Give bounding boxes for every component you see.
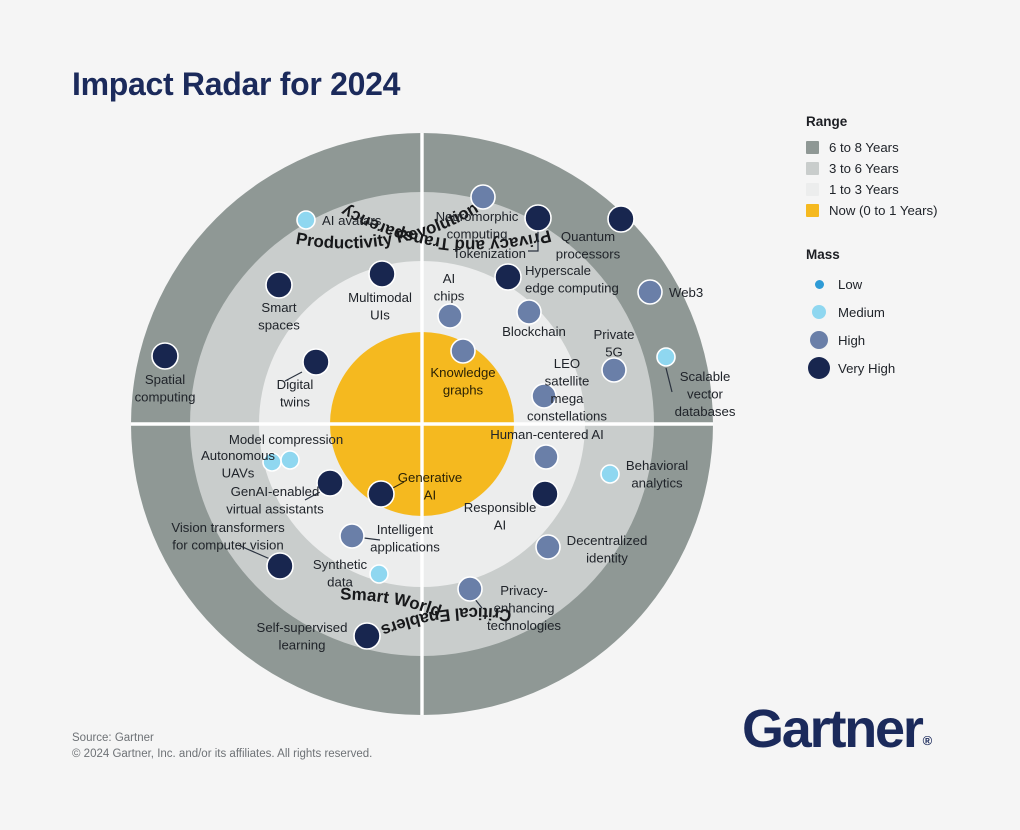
leader-lines (238, 231, 672, 608)
radar-dot[interactable] (281, 451, 299, 469)
radar-dot[interactable] (303, 349, 329, 375)
radar-axis-dividers (131, 133, 713, 715)
legend-mass-label: High (838, 333, 865, 348)
legend-range-list: 6 to 8 Years3 to 6 Years1 to 3 YearsNow … (806, 137, 1006, 221)
radar-dot[interactable] (601, 465, 619, 483)
leader-line (474, 598, 482, 608)
radar-dot[interactable] (368, 481, 394, 507)
radar-dot[interactable] (266, 272, 292, 298)
quadrant-label-productivity-revolution: Productivity Revolution (295, 198, 482, 252)
legend-swatch-icon (806, 183, 819, 196)
ring-3-to-6-years (190, 192, 654, 656)
point-label: GenerativeAI (398, 470, 463, 503)
point-label: AutonomousUAVs (201, 448, 275, 481)
point-label: GenAI-enabledvirtual assistants (226, 484, 324, 517)
legend-swatch-icon (806, 162, 819, 175)
leader-line (666, 368, 672, 392)
leader-line (285, 372, 302, 381)
legend-range-label: 3 to 6 Years (829, 161, 899, 176)
radar-dot[interactable] (517, 300, 541, 324)
legend-range-label: Now (0 to 1 Years) (829, 203, 938, 218)
radar-dot[interactable] (534, 445, 558, 469)
radar-dot[interactable] (369, 261, 395, 287)
radar-dot[interactable] (536, 535, 560, 559)
radar-dot[interactable] (340, 524, 364, 548)
radar-dot[interactable] (532, 481, 558, 507)
point-label: Scalablevectordatabases (675, 369, 736, 419)
quadrant-arc-path (247, 181, 520, 248)
point-label: Tokenization (453, 246, 526, 261)
radar-dot[interactable] (354, 623, 380, 649)
legend-mass-item[interactable]: Low (806, 270, 1006, 298)
point-label: Decentralizedidentity (567, 533, 648, 566)
radar-dot[interactable] (317, 470, 343, 496)
point-label: Private5G (593, 327, 634, 360)
legend-dot-cell (806, 305, 832, 319)
radar-dot[interactable] (267, 553, 293, 579)
point-label: Knowledgegraphs (430, 365, 495, 398)
legend-range-label: 1 to 3 Years (829, 182, 899, 197)
point-label: Blockchain (502, 324, 566, 339)
legend-mass-dot-icon (808, 357, 830, 379)
gartner-logo: Gartner® (742, 702, 931, 756)
legend-mass-label: Medium (838, 305, 885, 320)
point-label: LEOsatellitemegaconstellations (527, 356, 607, 424)
point-label: Smartspaces (258, 300, 300, 333)
quadrant-label-critical-enablers: Critical Enablers (378, 604, 512, 641)
point-label: Model compression (229, 432, 343, 447)
quadrant-arc-path (315, 185, 583, 241)
radar-rings (131, 133, 713, 715)
legend-mass-dot-icon (815, 280, 824, 289)
point-label: Quantumprocessors (556, 229, 621, 262)
registered-mark-icon: ® (923, 733, 933, 748)
legend-mass-dot-icon (810, 331, 828, 349)
legend-range-label: 6 to 8 Years (829, 140, 899, 155)
legend-range-heading: Range (806, 114, 1006, 129)
legend-mass-label: Very High (838, 361, 895, 376)
radar-dot[interactable] (297, 211, 315, 229)
radar-dot[interactable] (152, 343, 178, 369)
ring-now-0-to-1-years (330, 332, 514, 516)
legend-mass-heading: Mass (806, 247, 1006, 262)
page-title: Impact Radar for 2024 (72, 66, 400, 103)
legend-range-item[interactable]: 3 to 6 Years (806, 158, 1006, 179)
ring-1-to-3-years (259, 261, 585, 587)
point-label: Behavioralanalytics (626, 458, 688, 491)
legend-mass-item[interactable]: High (806, 326, 1006, 354)
radar-dot[interactable] (458, 577, 482, 601)
radar-dot[interactable] (525, 205, 551, 231)
radar-dot[interactable] (438, 304, 462, 328)
quadrant-label-smart-world: Smart World (340, 585, 444, 621)
point-label: AIchips (434, 271, 465, 304)
legend-mass-list: LowMediumHighVery High (806, 270, 1006, 382)
legend: Range 6 to 8 Years3 to 6 Years1 to 3 Yea… (806, 114, 1006, 382)
gartner-wordmark: Gartner (742, 699, 922, 759)
legend-range-item[interactable]: 6 to 8 Years (806, 137, 1006, 158)
leader-line (391, 482, 404, 489)
radar-dot[interactable] (263, 453, 281, 471)
legend-mass-item[interactable]: Very High (806, 354, 1006, 382)
point-label: Web3 (669, 285, 703, 300)
radar-dot[interactable] (608, 206, 634, 232)
point-label: Vision transformersfor computer vision (171, 520, 285, 553)
legend-mass-dot-icon (812, 305, 826, 319)
legend-swatch-icon (806, 204, 819, 217)
radar-points (152, 185, 675, 649)
point-label: Human-centered AI (490, 427, 604, 442)
radar-dot[interactable] (451, 339, 475, 363)
leader-line (305, 492, 320, 500)
leader-line (528, 231, 538, 251)
source-note: Source: Gartner © 2024 Gartner, Inc. and… (72, 731, 372, 762)
legend-mass-block: Mass LowMediumHighVery High (806, 247, 1006, 382)
point-label: Hyperscaleedge computing (525, 263, 619, 296)
point-label: AI avatars (322, 213, 382, 228)
legend-mass-item[interactable]: Medium (806, 298, 1006, 326)
radar-point-labels: AI avatarsSmartspacesMultimodalUIsDigita… (135, 209, 736, 653)
radar-dot[interactable] (370, 565, 388, 583)
point-label: Self-supervisedlearning (257, 620, 348, 653)
point-label: Spatialcomputing (135, 372, 196, 405)
point-label: Syntheticdata (313, 557, 368, 590)
legend-dot-cell (806, 357, 832, 379)
radar-dot[interactable] (657, 348, 675, 366)
leader-line (364, 538, 380, 540)
point-label: Digitaltwins (277, 377, 314, 410)
legend-swatch-icon (806, 141, 819, 154)
radar-dot[interactable] (638, 280, 662, 304)
point-label: MultimodalUIs (348, 290, 412, 323)
radar-dot[interactable] (471, 185, 495, 209)
legend-range-item[interactable]: Now (0 to 1 Years) (806, 200, 1006, 221)
quadrant-arc-path (247, 600, 520, 667)
radar-dot[interactable] (495, 264, 521, 290)
point-label: ResponsibleAI (464, 500, 537, 533)
legend-range-item[interactable]: 1 to 3 Years (806, 179, 1006, 200)
point-label: Privacy-enhancingtechnologies (487, 583, 561, 633)
quadrant-arc-path (315, 608, 583, 664)
legend-dot-cell (806, 331, 832, 349)
quadrant-labels: Smart WorldCritical EnablersProductivity… (247, 181, 584, 667)
copyright-line: © 2024 Gartner, Inc. and/or its affiliat… (72, 747, 372, 763)
leader-line (238, 545, 270, 559)
quadrant-label-privacy-and-transparency: Privacy and Transparency (338, 201, 554, 255)
point-label: Intelligentapplications (370, 522, 440, 555)
radar-dot[interactable] (602, 358, 626, 382)
legend-dot-cell (806, 280, 832, 289)
legend-mass-label: Low (838, 277, 862, 292)
point-label: Neuromorphiccomputing (436, 209, 519, 242)
ring-6-to-8-years (131, 133, 713, 715)
source-line: Source: Gartner (72, 731, 372, 747)
radar-dot[interactable] (532, 384, 556, 408)
